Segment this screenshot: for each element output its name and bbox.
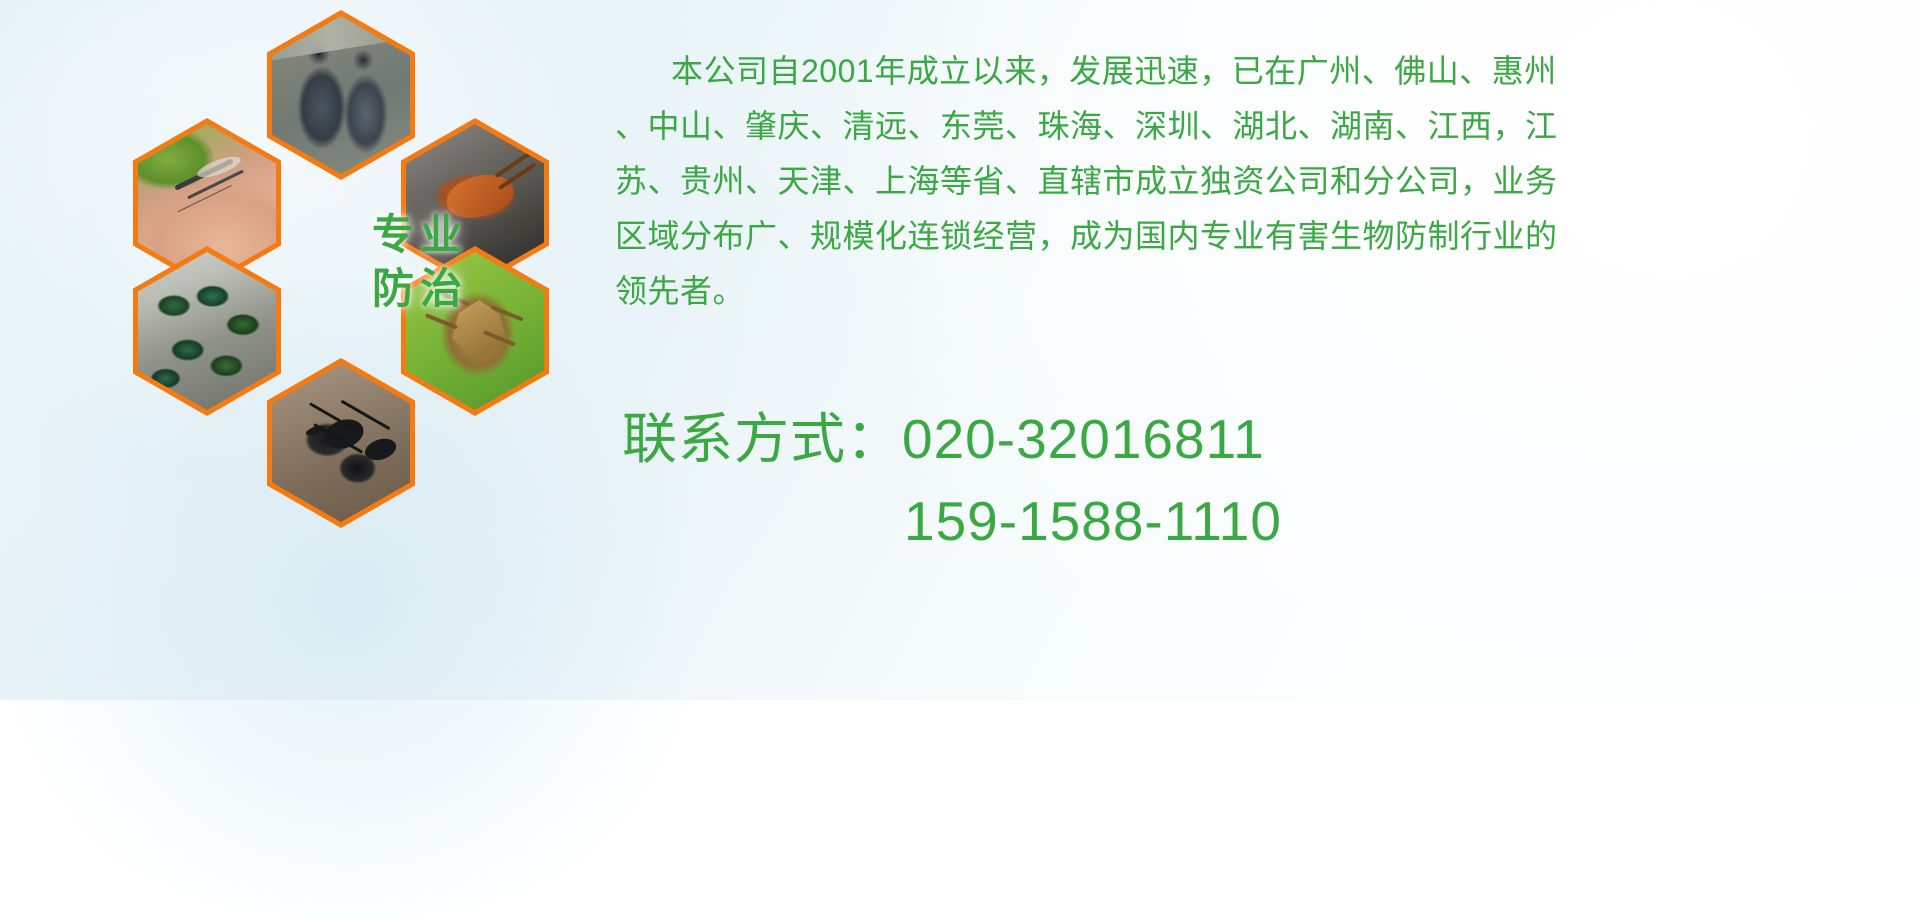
hex-tile-ant [267,358,415,528]
stinkbug-photo [406,252,544,410]
contact-line-primary[interactable]: 联系方式：020-32016811 [622,398,1882,480]
ant-photo [272,364,410,522]
contact-block: 联系方式：020-32016811 159-1588-1110 [622,398,1882,562]
hex-tile-flies [133,246,281,416]
about-line-1: 本公司自2001年成立以来，发展迅速，已在广州、佛山、惠州 [615,44,1885,99]
pest-control-banner: 专业 防治 本公司自2001年成立以来，发展迅速，已在广州、佛山、惠州 、中山、… [0,0,1920,700]
about-line-3: 苏、贵州、天津、上海等省、直辖市成立独资公司和分公司，业务 [615,154,1885,209]
hex-inner-ant [272,364,410,522]
hex-tile-stinkbug [401,246,549,416]
hexagon-photo-cluster: 专业 防治 [95,8,585,568]
about-line-5: 领先者。 [615,264,1885,319]
hex-inner-flies [138,252,276,410]
about-line-4: 区域分布广、规模化连锁经营，成为国内专业有害生物防制行业的 [615,209,1885,264]
company-description: 本公司自2001年成立以来，发展迅速，已在广州、佛山、惠州 、中山、肇庆、清远、… [615,44,1885,319]
hex-tile-rats [267,10,415,180]
about-line-2: 、中山、肇庆、清远、东莞、珠海、深圳、湖北、湖南、江西，江 [615,99,1885,154]
hex-inner-rats [272,16,410,174]
flies-photo [138,252,276,410]
hex-inner-stinkbug [406,252,544,410]
contact-line-secondary[interactable]: 159-1588-1110 [622,480,1882,562]
rats-photo [272,16,410,174]
